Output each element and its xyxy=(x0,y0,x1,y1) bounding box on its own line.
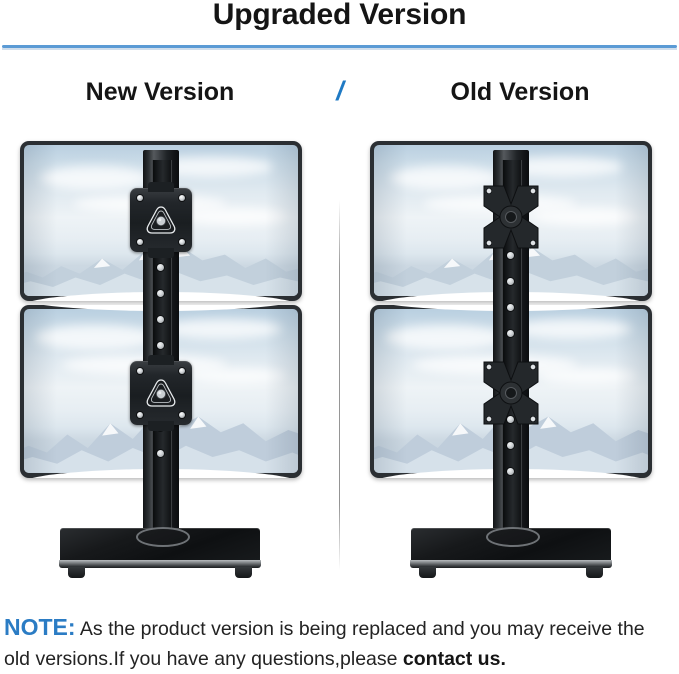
mount-screw xyxy=(137,195,143,201)
mount-screw xyxy=(137,368,143,374)
mount-screw xyxy=(179,368,185,374)
pole-hole xyxy=(507,442,514,449)
cloud-wisp xyxy=(161,319,282,339)
base-foot xyxy=(586,567,603,578)
pole-hole xyxy=(157,342,164,349)
base-bevel-edge xyxy=(59,560,261,568)
pole-hole xyxy=(157,450,164,457)
pole-hole xyxy=(507,252,514,259)
cloud-wisp xyxy=(188,368,287,384)
pole-hole xyxy=(507,330,514,337)
new-version-top-vesa-mount xyxy=(130,188,192,252)
cloud-wisp xyxy=(385,325,506,350)
cloud-wisp xyxy=(511,319,632,339)
base-foot xyxy=(235,567,252,578)
new-version-pole-collar xyxy=(136,527,190,547)
mount-screw xyxy=(179,412,185,418)
cloud-wisp xyxy=(183,208,287,225)
pole-hole xyxy=(507,468,514,475)
note-block: NOTE: As the product version is being re… xyxy=(4,612,676,674)
contact-us-link[interactable]: contact us. xyxy=(403,648,506,670)
product-comparison-image: Upgraded Version New Version Old Version… xyxy=(0,0,679,674)
mount-screw xyxy=(137,412,143,418)
base-foot xyxy=(68,567,85,578)
pole-hole xyxy=(507,304,514,311)
note-body-text: As the product version is being replaced… xyxy=(4,618,645,670)
pole-hole xyxy=(157,316,164,323)
new-version-bottom-vesa-mount xyxy=(130,361,192,425)
new-version-stand xyxy=(0,0,340,600)
old-version-stand xyxy=(339,0,679,600)
old-version-pole-collar xyxy=(486,527,540,547)
base-bevel-edge xyxy=(410,560,612,568)
cloud-wisp xyxy=(40,166,150,190)
cloud-wisp xyxy=(533,208,637,225)
mount-screw xyxy=(137,239,143,245)
mount-screw xyxy=(179,239,185,245)
note-label: NOTE: xyxy=(4,614,76,640)
old-version-top-vesa-mount xyxy=(478,182,544,252)
mount-screw xyxy=(179,195,185,201)
old-version-bottom-vesa-mount xyxy=(478,358,544,428)
pole-hole xyxy=(157,264,164,271)
cloud-wisp xyxy=(538,368,637,384)
brand-emblem-icon xyxy=(144,378,178,408)
cloud-wisp xyxy=(35,325,156,350)
brand-emblem-icon xyxy=(144,205,178,235)
pole-hole xyxy=(507,278,514,285)
base-foot xyxy=(419,567,436,578)
pole-hole xyxy=(157,290,164,297)
